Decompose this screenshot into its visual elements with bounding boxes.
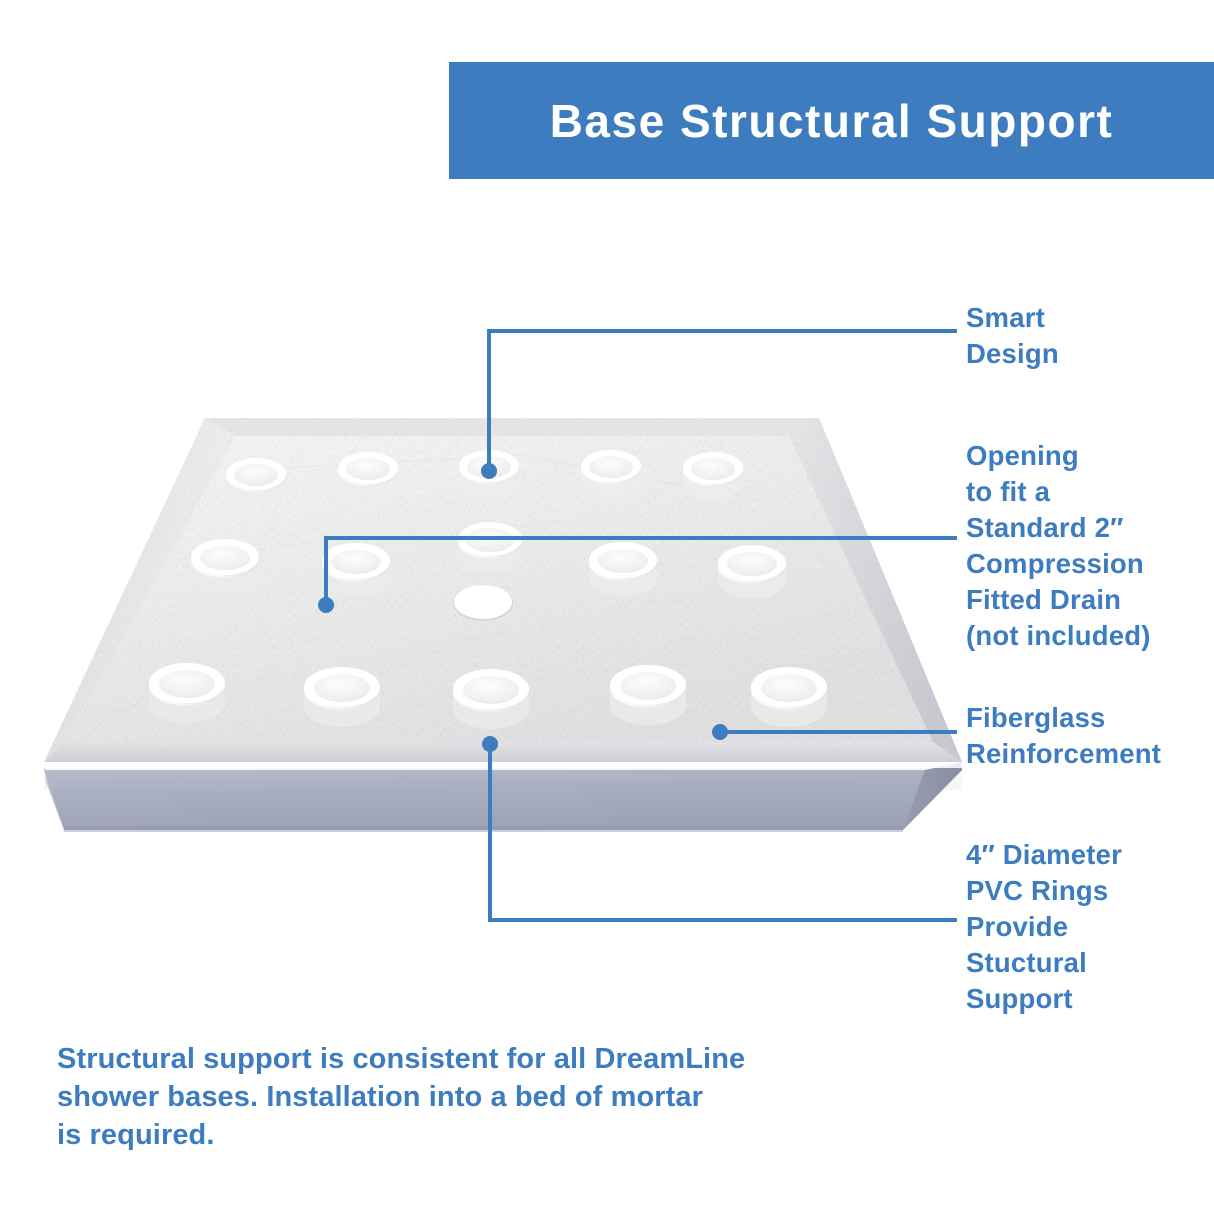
leader-line-fiberglass	[712, 724, 955, 740]
callout-smart-design: Smart Design	[966, 300, 1059, 372]
callout-line: Design	[966, 336, 1059, 372]
callout-drain-opening: Opening to fit a Standard 2″ Compression…	[966, 438, 1151, 654]
diagram-canvas: Base Structural Support Smart Design Ope…	[0, 0, 1214, 1214]
callout-line: Smart	[966, 300, 1059, 336]
callout-fiberglass-reinforcement: Fiberglass Reinforcement	[966, 700, 1161, 772]
footer-note: Structural support is consistent for all…	[57, 1040, 857, 1154]
callout-line: Stuctural	[966, 945, 1122, 981]
callout-line: Opening	[966, 438, 1151, 474]
callout-line: Compression	[966, 546, 1151, 582]
leader-line-drain-opening	[318, 538, 955, 613]
callout-line: Fiberglass	[966, 700, 1161, 736]
callout-line: Reinforcement	[966, 736, 1161, 772]
callout-line: PVC Rings	[966, 873, 1122, 909]
callout-line: 4″ Diameter	[966, 837, 1122, 873]
page-title: Base Structural Support	[550, 94, 1114, 148]
callout-pvc-rings: 4″ Diameter PVC Rings Provide Stuctural …	[966, 837, 1122, 1017]
footer-line: Structural support is consistent for all…	[57, 1040, 857, 1078]
footer-line: shower bases. Installation into a bed of…	[57, 1078, 857, 1116]
leader-line-pvc-rings	[482, 736, 955, 920]
callout-line: (not included)	[966, 618, 1151, 654]
callout-line: Fitted Drain	[966, 582, 1151, 618]
callout-line: to fit a	[966, 474, 1151, 510]
footer-line: is required.	[57, 1116, 857, 1154]
callout-line: Support	[966, 981, 1122, 1017]
callout-line: Provide	[966, 909, 1122, 945]
header-banner: Base Structural Support	[449, 62, 1214, 179]
leader-line-smart-design	[481, 331, 955, 479]
callout-line: Standard 2″	[966, 510, 1151, 546]
